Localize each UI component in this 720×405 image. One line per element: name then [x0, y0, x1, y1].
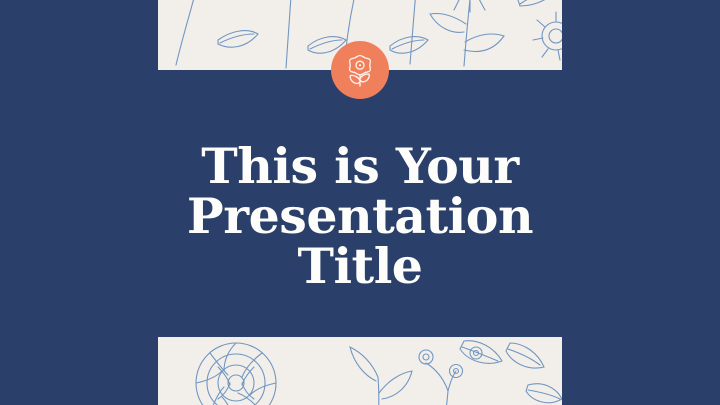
- presentation-slide: This is Your Presentation Title: [0, 0, 720, 405]
- botanical-pattern-icon: [158, 337, 562, 405]
- flower-badge: [331, 41, 389, 99]
- title-block: This is Your Presentation Title: [0, 141, 720, 291]
- flower-icon: [345, 53, 375, 87]
- bottom-floral-band: [158, 337, 562, 405]
- page-title: This is Your Presentation Title: [0, 141, 720, 291]
